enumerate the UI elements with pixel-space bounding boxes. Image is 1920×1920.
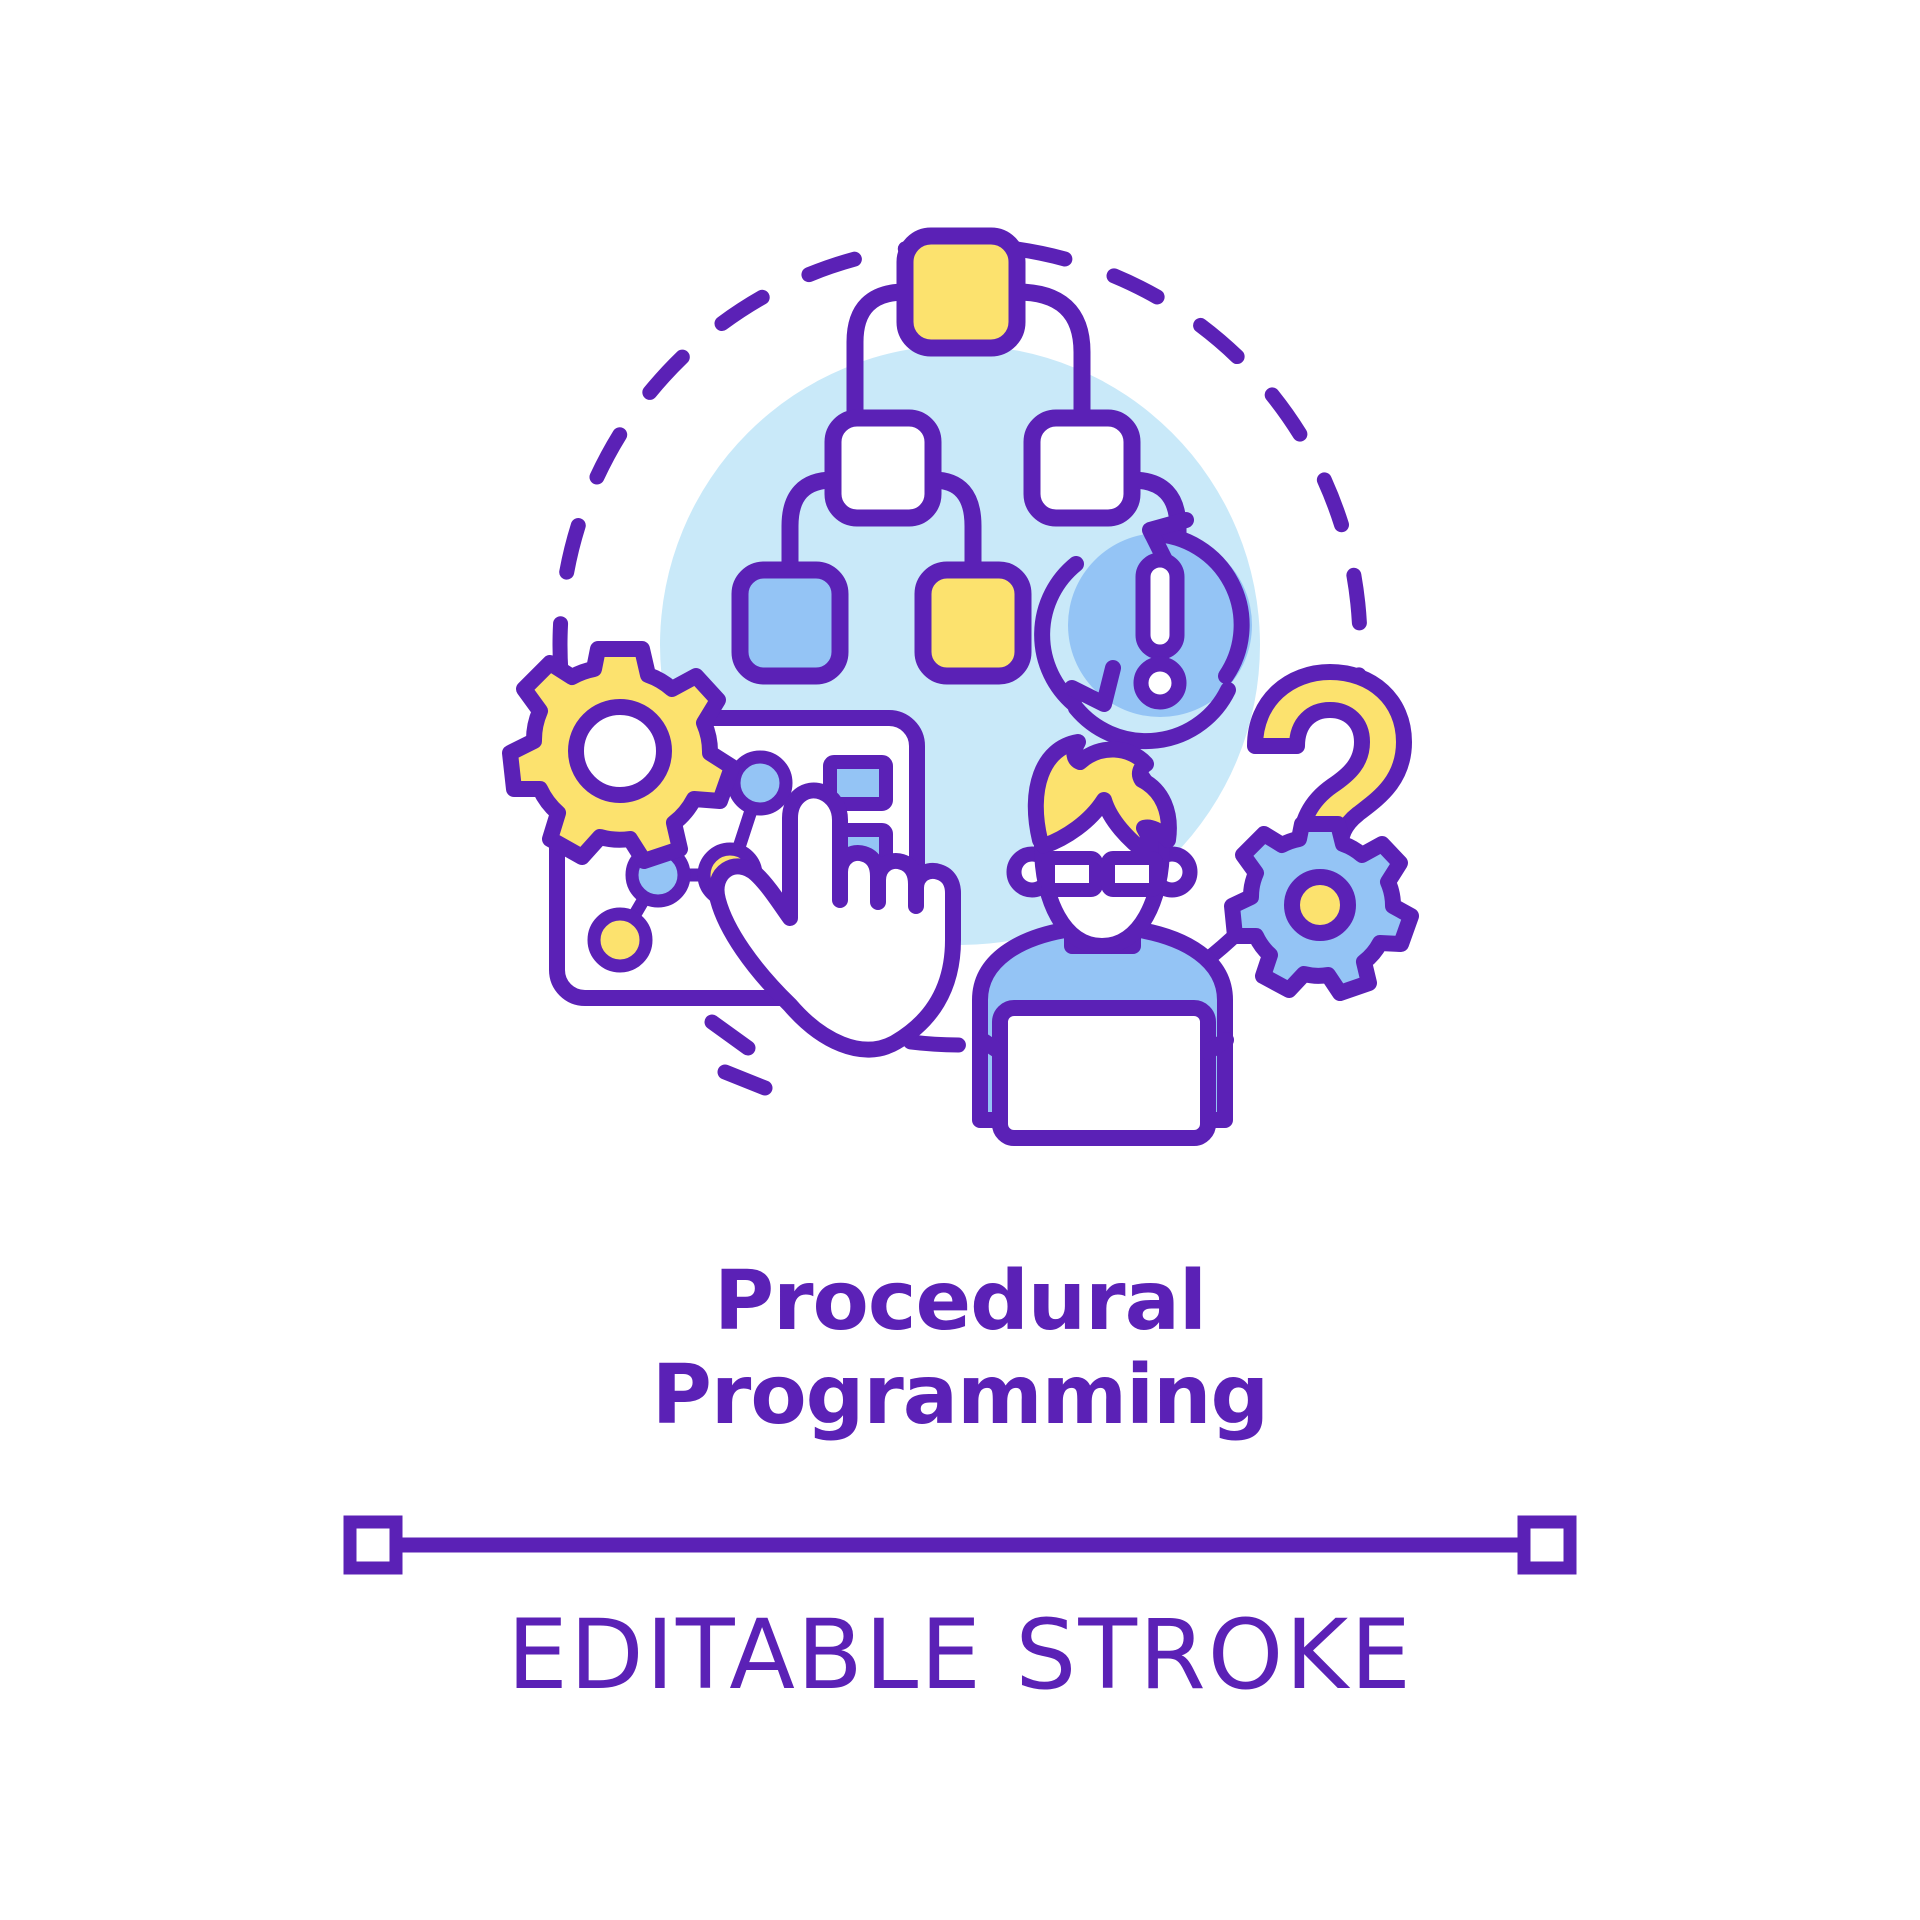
flowchart-node-right-branch [1032,418,1132,518]
illustration-svg [0,0,1920,1230]
editable-stroke-label: EDITABLE STROKE [0,1600,1920,1710]
flowchart-node-root [905,236,1017,348]
page-title-line-2: Programming [0,1349,1920,1443]
stroke-width-indicator [0,1500,1920,1590]
page-title-line-1: Procedural [0,1255,1920,1349]
graph-node-bottom-yellow [594,914,646,966]
graph-node-top-blue [734,757,786,809]
flowchart-node-leaf-blue [740,570,840,676]
exclamation-mark [1141,560,1179,702]
illustration-container [0,0,1920,1230]
concept-icon-page: Procedural Programming EDITABLE STROKE [0,0,1920,1920]
glasses-icon [1048,858,1156,890]
flowchart-node-leaf-yellow [923,570,1023,676]
stroke-indicator-svg [0,1500,1920,1590]
page-title: Procedural Programming [0,1255,1920,1443]
flowchart-node-left-branch [833,418,933,518]
laptop-screen [1000,1008,1208,1138]
left-endpoint-handle[interactable] [350,1522,396,1568]
right-endpoint-handle[interactable] [1524,1522,1570,1568]
